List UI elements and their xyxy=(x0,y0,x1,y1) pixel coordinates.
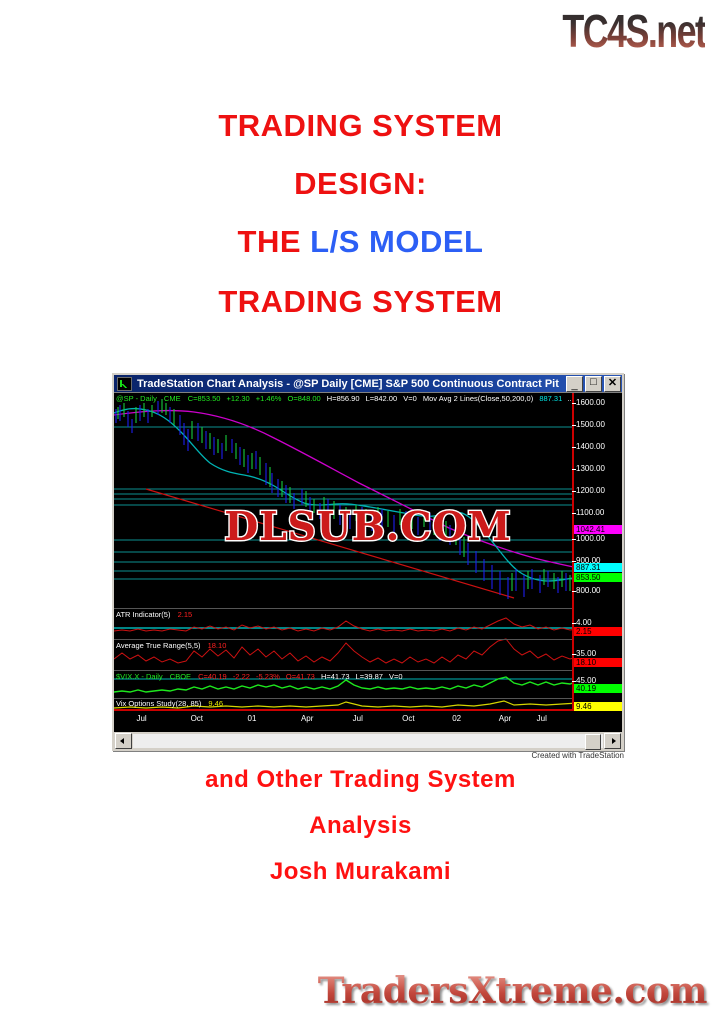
date-label-4: Jul xyxy=(353,714,363,723)
price-chip-ma200: 1042.41 xyxy=(574,525,622,534)
price-quote-line: @SP - Daily CME C=853.50 +12.30 +1.46% O… xyxy=(116,394,574,403)
axis-tick-1600: 1600.00 xyxy=(576,398,605,407)
date-label-2: 01 xyxy=(248,714,257,723)
title-line-3-blue: L/S MODEL xyxy=(310,224,483,259)
chart-icon xyxy=(117,377,132,391)
vix-change-pct: -5.23% xyxy=(256,672,280,681)
minimize-button[interactable]: _ xyxy=(566,376,583,392)
avg-true-range-value-chip: 18.10 xyxy=(574,658,622,667)
title-line-3-red: THE xyxy=(238,224,311,259)
vix-high: H=41.73 xyxy=(321,672,350,681)
quote-change: +12.30 xyxy=(227,394,250,403)
vix-quote-line: $VIX.X - Daily CBOE C=40.19 -2.22 -5.23%… xyxy=(116,672,403,681)
date-label-7: Apr xyxy=(499,714,511,723)
pane-divider-vix xyxy=(114,670,574,671)
axis-tick-1300: 1300.00 xyxy=(576,464,605,473)
quote-open: O=848.00 xyxy=(288,394,321,403)
chart-svg xyxy=(114,393,574,711)
axis-tick-1400: 1400.00 xyxy=(576,442,605,451)
avg-true-range-value: 18.10 xyxy=(208,641,227,650)
quote-change-pct: +1.46% xyxy=(256,394,282,403)
vix-options-label: Vix Options Study(28, 85) xyxy=(116,699,201,708)
vix-open: O=41.73 xyxy=(286,672,315,681)
title-line-3: THE L/S MODEL xyxy=(0,224,721,260)
vix-value-chip: 40.19 xyxy=(574,684,622,693)
vix-symbol: $VIX.X - Daily xyxy=(116,672,163,681)
vix-close: C=40.19 xyxy=(198,672,227,681)
top-brand-logo: TC4S.net xyxy=(562,4,705,58)
vix-change: -2.22 xyxy=(233,672,250,681)
subtitle-block: and Other Trading System Analysis Josh M… xyxy=(0,766,721,886)
vix-options-value: 9.46 xyxy=(208,699,223,708)
price-chip-last: 853.50 xyxy=(574,573,622,582)
date-label-5: Oct xyxy=(402,714,414,723)
quote-study: Mov Avg 2 Lines(Close,50,200,0) xyxy=(423,394,533,403)
vix-options-value-chip: 9.46 xyxy=(574,702,622,711)
created-with-caption: Created with TradeStation xyxy=(112,751,626,760)
scroll-left-arrow-icon[interactable] xyxy=(115,733,132,749)
watermark-outline: DLSUB.COM xyxy=(224,504,511,550)
maximize-button[interactable]: □ xyxy=(585,376,602,392)
axis-tick-800: 800.00 xyxy=(576,586,600,595)
subtitle-line-1: and Other Trading System xyxy=(0,766,721,794)
title-line-4: TRADING SYSTEM xyxy=(0,284,721,320)
price-axis[interactable]: 1600.00 1500.00 1400.00 1300.00 1200.00 … xyxy=(572,393,622,711)
subtitle-line-2: Analysis xyxy=(0,812,721,840)
vix-options-legend: Vix Options Study(28, 85) 9.46 xyxy=(116,699,223,708)
pane-divider-avg-true-range xyxy=(114,639,574,640)
atr-indicator-value: 2.15 xyxy=(178,610,193,619)
axis-tick-1500: 1500.00 xyxy=(576,420,605,429)
vix-exchange: CBOE xyxy=(170,672,191,681)
date-label-1: Oct xyxy=(191,714,203,723)
date-axis[interactable]: Jul Oct 01 Apr Jul Oct 02 Apr Jul xyxy=(114,709,574,733)
axis-tick-1200: 1200.00 xyxy=(576,486,605,495)
tradestation-chart-window[interactable]: TradeStation Chart Analysis - @SP Daily … xyxy=(112,373,624,751)
vix-volume: V=0 xyxy=(389,672,403,681)
title-line-1: TRADING SYSTEM xyxy=(0,108,721,144)
quote-close: C=853.50 xyxy=(188,394,221,403)
price-chip-ma50: 887.31 xyxy=(574,563,622,572)
quote-high: H=856.90 xyxy=(327,394,360,403)
date-label-8: Jul xyxy=(537,714,547,723)
horizontal-scrollbar[interactable] xyxy=(114,732,622,749)
quote-exchange: CME xyxy=(164,394,181,403)
quote-low: L=842.00 xyxy=(366,394,398,403)
axis-tick-atr5-35: 35.00 xyxy=(576,649,596,658)
scroll-right-arrow-icon[interactable] xyxy=(604,733,621,749)
title-block: TRADING SYSTEM DESIGN: THE L/S MODEL TRA… xyxy=(0,108,721,342)
avg-true-range-label: Average True Range(5,5) xyxy=(116,641,201,650)
close-icon: ✕ xyxy=(605,377,620,389)
author-name: Josh Murakami xyxy=(0,858,721,886)
date-label-6: 02 xyxy=(452,714,461,723)
maximize-icon: □ xyxy=(586,376,601,388)
date-label-3: Apr xyxy=(301,714,313,723)
quote-study-value: 887.31 xyxy=(539,394,562,403)
vix-low: L=39.87 xyxy=(356,672,383,681)
avg-true-range-legend: Average True Range(5,5) 18.10 xyxy=(116,641,226,650)
plot-area[interactable] xyxy=(114,393,574,711)
quote-volume: V=0 xyxy=(403,394,417,403)
minimize-icon: _ xyxy=(567,379,582,391)
window-titlebar[interactable]: TradeStation Chart Analysis - @SP Daily … xyxy=(114,375,622,392)
atr-indicator-label: ATR Indicator(5) xyxy=(116,610,170,619)
close-button[interactable]: ✕ xyxy=(604,376,621,392)
date-label-0: Jul xyxy=(136,714,146,723)
axis-tick-1100: 1100.00 xyxy=(576,508,604,517)
axis-tick-atr-4: 4.00 xyxy=(576,618,592,627)
title-line-2: DESIGN: xyxy=(0,166,721,202)
footer-brand-logo: TradersXtreme.com xyxy=(318,970,707,1012)
atr-indicator-legend: ATR Indicator(5) 2.15 xyxy=(116,610,192,619)
axis-tick-1000: 1000.00 xyxy=(576,534,605,543)
scrollbar-thumb[interactable] xyxy=(585,734,601,750)
pane-divider-atr xyxy=(114,608,574,609)
scrollbar-track[interactable] xyxy=(133,734,603,748)
atr-value-chip: 2.15 xyxy=(574,627,622,636)
chart-canvas[interactable]: @SP - Daily CME C=853.50 +12.30 +1.46% O… xyxy=(114,392,622,733)
window-title: TradeStation Chart Analysis - @SP Daily … xyxy=(137,378,564,390)
quote-symbol: @SP - Daily xyxy=(116,394,157,403)
